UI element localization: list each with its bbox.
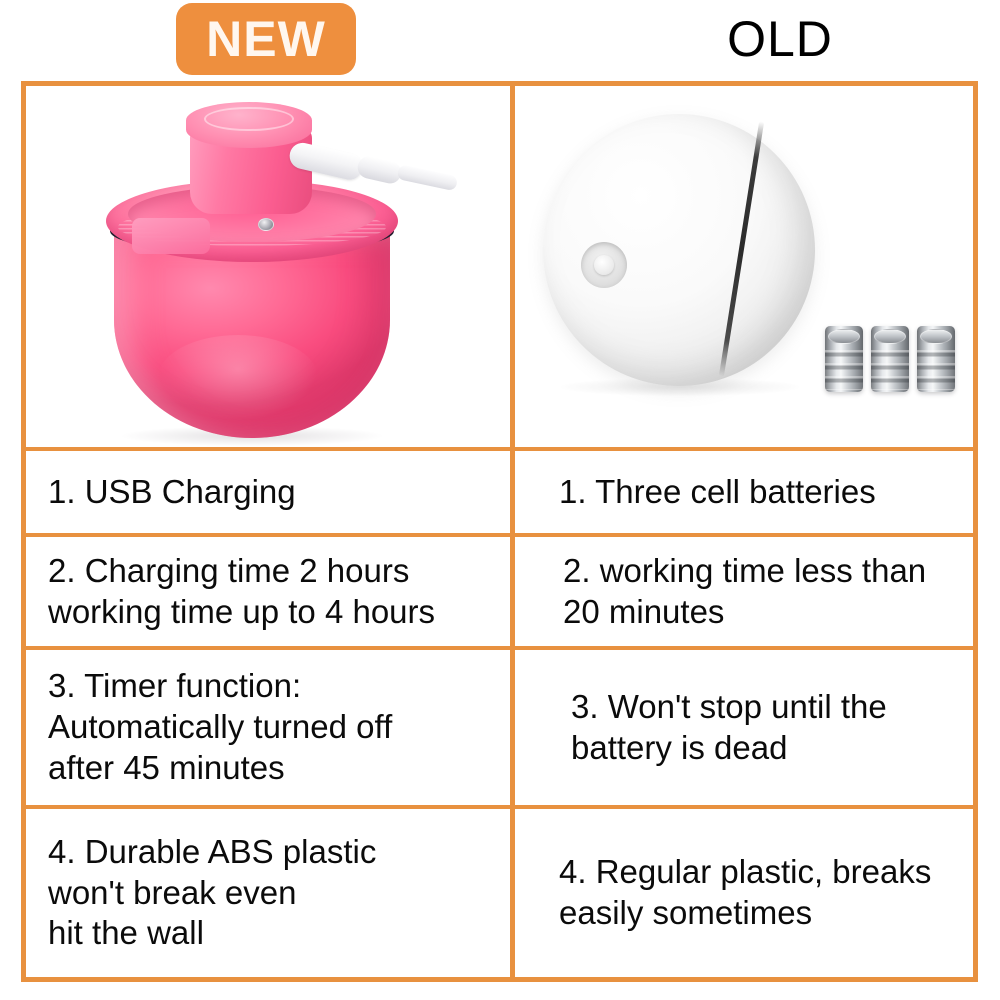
white-seam-line xyxy=(719,121,764,377)
white-ball-illustration xyxy=(543,114,815,386)
new-product-image xyxy=(26,86,510,447)
old-label: OLD xyxy=(640,3,920,75)
usb-cable-cord xyxy=(396,164,458,191)
battery-icon xyxy=(871,326,909,392)
screw-icon xyxy=(258,218,274,231)
new-feature-1: 1. USB Charging xyxy=(26,451,510,533)
header-row: NEW OLD xyxy=(0,0,1000,80)
usb-cable-midsection xyxy=(356,154,404,185)
old-feature-1: 1. Three cell batteries xyxy=(515,451,973,533)
new-feature-2: 2. Charging time 2 hours working time up… xyxy=(26,537,510,646)
old-product-image xyxy=(515,86,973,447)
column-divider xyxy=(510,86,515,977)
new-badge: NEW xyxy=(176,3,356,75)
power-button-icon xyxy=(581,242,627,288)
new-feature-4: 4. Durable ABS plastic won't break even … xyxy=(26,809,510,977)
battery-icon xyxy=(917,326,955,392)
row-divider-3 xyxy=(26,805,973,809)
new-feature-3: 3. Timer function: Automatically turned … xyxy=(26,650,510,805)
pink-motor-cap xyxy=(186,102,312,148)
battery-icon xyxy=(825,326,863,392)
row-divider-1 xyxy=(26,533,973,537)
row-divider-images xyxy=(26,447,973,451)
battery-group xyxy=(825,318,959,392)
old-feature-4: 4. Regular plastic, breaks easily someti… xyxy=(515,809,973,977)
comparison-infographic: NEW OLD xyxy=(0,0,1000,1000)
pink-lid-tab xyxy=(132,218,210,254)
old-feature-3: 3. Won't stop until the battery is dead xyxy=(515,650,973,805)
pink-ball-illustration xyxy=(62,96,442,441)
comparison-table: 1. USB Charging 1. Three cell batteries … xyxy=(21,81,978,982)
row-divider-2 xyxy=(26,646,973,650)
old-feature-2: 2. working time less than 20 minutes xyxy=(515,537,973,646)
